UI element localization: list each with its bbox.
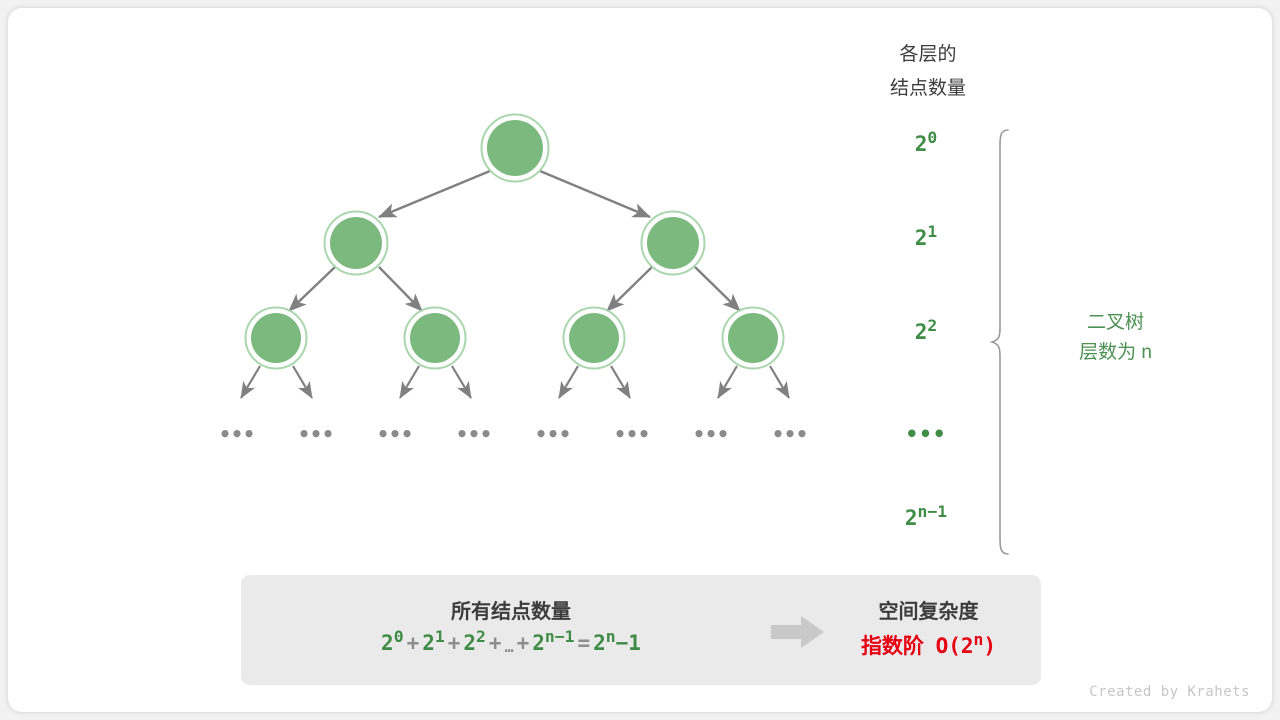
summary-left-panel: 所有结点数量 20+21+22+…+2n−1=2n−1 <box>241 575 781 685</box>
level-0-exponent: 0 <box>927 128 937 147</box>
formula-term-last-exponent: n−1 <box>545 627 575 646</box>
level-count-label-ellipsis: ••• <box>846 422 1006 446</box>
formula-plus: + <box>445 631 464 655</box>
space-complexity-value: 指数阶 O(2n) <box>816 630 1041 660</box>
leaf-ellipsis: ••• <box>691 424 731 444</box>
leaf-ellipsis-text: ••• <box>456 422 492 446</box>
bigo-exponent: n <box>974 630 984 649</box>
level-2-base: 2 <box>915 320 928 344</box>
summary-box: 所有结点数量 20+21+22+…+2n−1=2n−1 空间复杂度 指数阶 O(… <box>241 575 1041 685</box>
space-complexity-bigo: O(2n) <box>936 634 996 658</box>
brace-annotation-line1: 二叉树 <box>1028 308 1203 338</box>
leaf-ellipsis-text: ••• <box>772 422 808 446</box>
leaf-ellipsis-text: ••• <box>298 422 334 446</box>
leaf-ellipsis-text: ••• <box>693 422 729 446</box>
leaf-ellipsis: ••• <box>770 424 810 444</box>
credit-text: Created by Krahets <box>1089 684 1250 700</box>
leaf-ellipsis-text: ••• <box>219 422 255 446</box>
formula-term-last-base: 2 <box>532 631 545 655</box>
level-ellipsis-text: ••• <box>906 422 947 446</box>
column-header-line2: 结点数量 <box>846 72 1010 106</box>
leaf-ellipsis-text: ••• <box>535 422 571 446</box>
diagram-root: 各层的 结点数量 20 21 22 ••• 2n−1 二叉树 层数为 <box>0 0 1280 720</box>
level-n-base: 2 <box>905 506 918 530</box>
formula-term-2: 22 <box>463 631 486 655</box>
total-node-count-formula: 20+21+22+…+2n−1=2n−1 <box>241 631 781 656</box>
formula-term-1-exponent: 1 <box>435 627 445 646</box>
level-0-base: 2 <box>915 132 928 156</box>
tree-node-level-2 <box>246 308 784 369</box>
leaf-ellipsis-text: ••• <box>377 422 413 446</box>
bigo-suffix: ) <box>983 634 996 658</box>
leaf-ellipsis: ••• <box>612 424 652 444</box>
leaf-ellipsis: ••• <box>296 424 336 444</box>
leaf-ellipsis: ••• <box>533 424 573 444</box>
formula-term-0: 20 <box>381 631 404 655</box>
level-count-column-header: 各层的 结点数量 <box>846 38 1010 106</box>
brace-annotation-line2: 层数为 n <box>1028 338 1203 368</box>
space-complexity-title: 空间复杂度 <box>816 595 1041 624</box>
level-1-base: 2 <box>915 226 928 250</box>
diagram-card: 各层的 结点数量 20 21 22 ••• 2n−1 二叉树 层数为 <box>8 8 1272 712</box>
tree-node-level-0 <box>482 115 549 182</box>
leaf-ellipsis: ••• <box>454 424 494 444</box>
level-count-label-1: 21 <box>846 226 1006 250</box>
level-1-exponent: 1 <box>927 222 937 241</box>
tree-node-level-1 <box>325 212 705 275</box>
leaf-ellipsis-text: ••• <box>614 422 650 446</box>
formula-term-0-base: 2 <box>381 631 394 655</box>
formula-result-exponent: n <box>606 627 616 646</box>
formula-ellipsis: … <box>505 638 514 656</box>
formula-plus: + <box>486 631 505 655</box>
formula-plus: + <box>514 631 533 655</box>
total-node-count-title: 所有结点数量 <box>241 595 781 624</box>
leaf-ellipsis: ••• <box>217 424 257 444</box>
leaf-ellipsis: ••• <box>375 424 415 444</box>
level-count-label-2: 22 <box>846 320 1006 344</box>
formula-plus: + <box>404 631 423 655</box>
tree-edges-level-2-leaves <box>241 366 789 398</box>
formula-term-1: 21 <box>422 631 445 655</box>
bigo-prefix: O(2 <box>936 634 974 658</box>
summary-right-panel: 空间复杂度 指数阶 O(2n) <box>816 575 1041 685</box>
formula-result-suffix: −1 <box>616 631 641 655</box>
brace-annotation: 二叉树 层数为 n <box>1028 308 1203 368</box>
formula-term-last: 2n−1 <box>532 631 574 655</box>
formula-result: 2n−1 <box>593 631 641 655</box>
column-header-line1: 各层的 <box>846 38 1010 72</box>
level-2-exponent: 2 <box>927 316 937 335</box>
diagram-stage: 各层的 结点数量 20 21 22 ••• 2n−1 二叉树 层数为 <box>8 8 1272 712</box>
space-complexity-label: 指数阶 <box>861 635 924 658</box>
formula-equals: = <box>574 631 593 655</box>
formula-term-1-base: 2 <box>422 631 435 655</box>
formula-result-base: 2 <box>593 631 606 655</box>
formula-term-2-base: 2 <box>463 631 476 655</box>
formula-term-0-exponent: 0 <box>394 627 404 646</box>
tree-edges-level-0-1 <box>379 171 650 217</box>
level-n-exponent: n−1 <box>918 502 948 521</box>
level-count-label-0: 20 <box>846 132 1006 156</box>
formula-term-2-exponent: 2 <box>476 627 486 646</box>
level-count-label-n: 2n−1 <box>846 506 1006 530</box>
